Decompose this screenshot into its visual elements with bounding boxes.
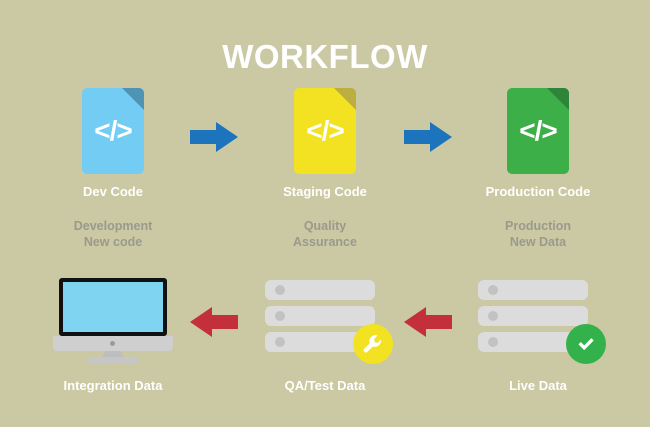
stage-label: Integration Data [33,378,193,394]
arrow-head [404,307,426,337]
stage-sublabel-line2: New code [33,234,193,250]
arrow-shaft [190,130,218,144]
stage-sublabel: Production New Data [458,218,618,250]
code-file-icon: </> [82,88,144,174]
arrow-head [216,122,238,152]
page-title: WORKFLOW [0,38,650,76]
arrow-right-icon [190,122,238,152]
stage-label: Production Code [458,184,618,200]
stage-sublabel-line1: Quality [245,218,405,234]
file-fold-corner [547,88,569,110]
server-bar [478,280,588,300]
monitor-screen [63,282,163,332]
file-fold-corner [334,88,356,110]
stage-sublabel: Development New code [33,218,193,250]
arrow-shaft [210,315,238,329]
server-bar [265,306,375,326]
arrow-right-icon [404,122,452,152]
stage-sublabel: Quality Assurance [245,218,405,250]
stage-production-code: </> Production Code Production New Data [458,88,618,250]
server-led-icon [275,337,285,347]
stage-sublabel-line2: Assurance [245,234,405,250]
arrow-left-icon [190,307,238,337]
server-led-icon [275,311,285,321]
arrow-left-icon [404,307,452,337]
code-glyph: </> [82,115,144,147]
stage-sublabel-line1: Development [33,218,193,234]
server-bar [265,280,375,300]
wrench-badge-icon [353,324,393,364]
staging-code-icon-wrap: </> [245,88,405,176]
stage-live-data: Live Data [458,278,618,394]
server-led-icon [488,285,498,295]
integration-data-icon-wrap [33,278,193,370]
server-led-icon [275,285,285,295]
stage-label: Dev Code [33,184,193,200]
code-glyph: </> [507,115,569,147]
monitor-power-dot-icon [110,341,115,346]
check-badge-icon [566,324,606,364]
stage-label: Live Data [458,378,618,394]
stage-sublabel-line2: New Data [458,234,618,250]
arrow-shaft [404,130,432,144]
server-bar [478,306,588,326]
stage-label: Staging Code [245,184,405,200]
arrow-head [430,122,452,152]
server-stack-icon [265,278,385,362]
dev-code-icon-wrap: </> [33,88,193,176]
stage-label: QA/Test Data [245,378,405,394]
code-glyph: </> [294,115,356,147]
arrow-shaft [424,315,452,329]
stage-integration-data: Integration Data [33,278,193,394]
stage-dev-code: </> Dev Code Development New code [33,88,193,250]
live-data-icon-wrap [458,278,618,370]
server-led-icon [488,337,498,347]
monitor-stand-base [87,357,139,364]
stage-sublabel-line1: Production [458,218,618,234]
monitor-frame [59,278,167,336]
server-stack-icon [478,278,598,362]
code-file-icon: </> [294,88,356,174]
qa-test-data-icon-wrap [245,278,405,370]
stage-qa-test-data: QA/Test Data [245,278,405,394]
monitor-icon [53,278,173,362]
workflow-diagram: WORKFLOW </> Dev Code Development New co… [0,0,650,427]
server-led-icon [488,311,498,321]
file-fold-corner [122,88,144,110]
code-file-icon: </> [507,88,569,174]
stage-staging-code: </> Staging Code Quality Assurance [245,88,405,250]
arrow-head [190,307,212,337]
production-code-icon-wrap: </> [458,88,618,176]
